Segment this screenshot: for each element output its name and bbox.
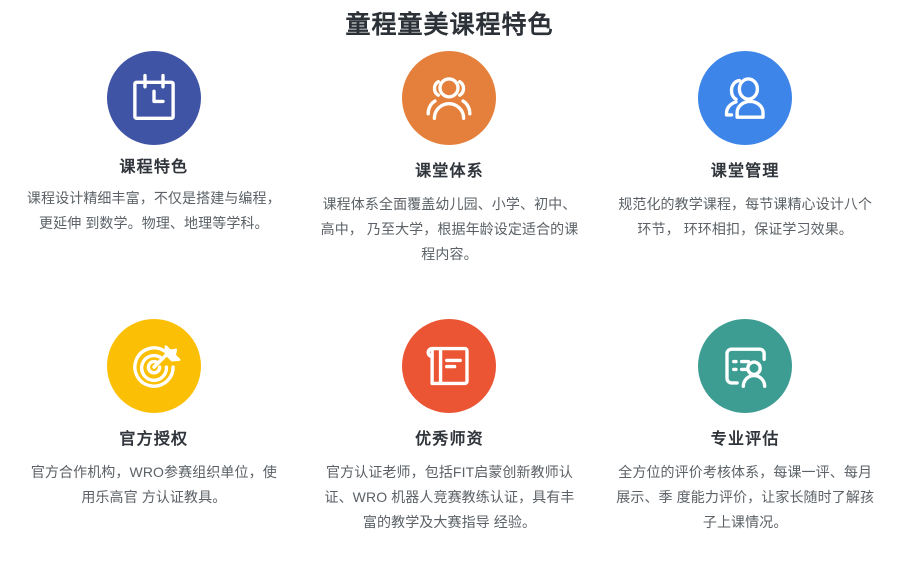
feature-description: 官方认证老师，包括FIT启蒙创新教师认证、WRO 机器人竞赛教练认证，具有丰富的… xyxy=(320,460,580,535)
feature-card-course-features[interactable]: 课程特色 课程设计精细丰富，不仅是搭建与编程，更延伸 到数学。物理、地理等学科。 xyxy=(6,42,302,310)
feature-description: 规范化的教学课程，每节课精心设计八个环节， 环环相扣，保证学习效果。 xyxy=(615,192,875,242)
icon-circle-5 xyxy=(402,319,496,413)
feature-title: 专业评估 xyxy=(711,429,780,451)
course-features-page: 童程童美课程特色 课程特色 课程设计精细丰富，不仅是搭建与编程，更延伸 到数学。… xyxy=(0,0,899,585)
target-arrow-icon xyxy=(127,339,181,393)
feature-description: 课程设计精细丰富，不仅是搭建与编程，更延伸 到数学。物理、地理等学科。 xyxy=(24,186,284,236)
feature-description: 官方合作机构，WRO参赛组织单位，使用乐高官 方认证教具。 xyxy=(24,460,284,510)
icon-circle-3 xyxy=(698,51,792,145)
feature-card-classroom-management[interactable]: 课堂管理 规范化的教学课程，每节课精心设计八个环节， 环环相扣，保证学习效果。 xyxy=(597,42,893,310)
feature-description: 全方位的评价考核体系，每课一评、每月展示、季 度能力评价，让家长随时了解孩子上课… xyxy=(615,460,875,535)
icon-circle-4 xyxy=(107,319,201,413)
icon-circle-1 xyxy=(107,51,201,145)
icon-circle-2 xyxy=(402,51,496,145)
id-card-person-icon xyxy=(718,339,772,393)
feature-title: 课程特色 xyxy=(119,157,188,179)
two-users-icon xyxy=(718,71,772,125)
feature-card-excellent-teachers[interactable]: 优秀师资 官方认证老师，包括FIT启蒙创新教师认证、WRO 机器人竞赛教练认证，… xyxy=(302,310,598,578)
features-grid: 课程特色 课程设计精细丰富，不仅是搭建与编程，更延伸 到数学。物理、地理等学科。 xyxy=(0,42,899,578)
page-title: 童程童美课程特色 xyxy=(0,0,899,42)
people-group-icon xyxy=(422,71,476,125)
feature-card-official-authorization[interactable]: 官方授权 官方合作机构，WRO参赛组织单位，使用乐高官 方认证教具。 xyxy=(6,310,302,578)
feature-description: 课程体系全面覆盖幼儿园、小学、初中、高中， 乃至大学，根据年龄设定适合的课程内容… xyxy=(320,192,580,267)
feature-title: 官方授权 xyxy=(119,429,188,451)
feature-title: 优秀师资 xyxy=(415,429,484,451)
feature-card-classroom-system[interactable]: 课堂体系 课程体系全面覆盖幼儿园、小学、初中、高中， 乃至大学，根据年龄设定适合… xyxy=(302,42,598,310)
calendar-clock-icon xyxy=(127,71,181,125)
feature-card-professional-assessment[interactable]: 专业评估 全方位的评价考核体系，每课一评、每月展示、季 度能力评价，让家长随时了… xyxy=(597,310,893,578)
icon-circle-6 xyxy=(698,319,792,413)
feature-title: 课堂管理 xyxy=(711,161,780,183)
feature-title: 课堂体系 xyxy=(415,161,484,183)
book-icon xyxy=(422,339,476,393)
